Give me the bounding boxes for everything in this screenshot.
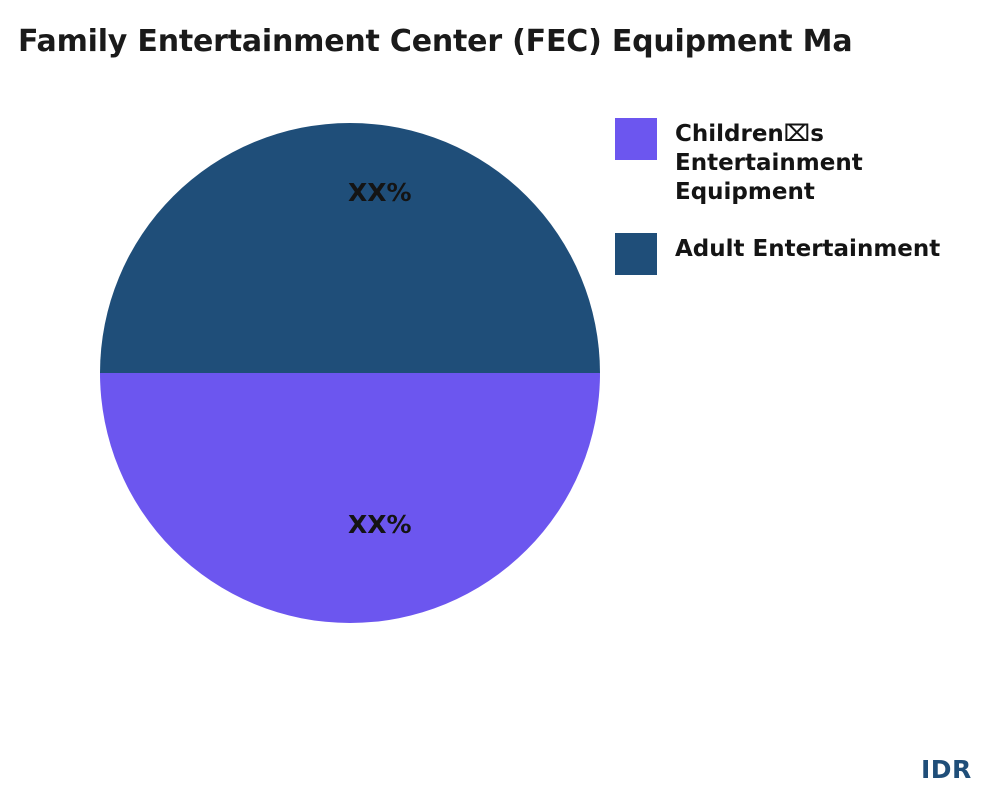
legend: Children⌧s Entertainment Equipment Adult… [615,118,1000,301]
pie-slice-label-children: XX% [348,510,412,539]
pie-slice-children[interactable] [100,373,600,623]
pie-slice-adult[interactable] [100,123,600,373]
pie-chart-figure: Family Entertainment Center (FEC) Equipm… [0,0,1000,800]
legend-item-adult[interactable]: Adult Entertainment [615,233,1000,275]
pie-slice-label-adult: XX% [348,178,412,207]
legend-label-adult: Adult Entertainment [675,233,940,264]
watermark-idr: IDR [921,755,972,784]
chart-title: Family Entertainment Center (FEC) Equipm… [18,24,852,59]
legend-swatch-children [615,118,657,160]
legend-item-children[interactable]: Children⌧s Entertainment Equipment [615,118,1000,207]
legend-label-children: Children⌧s Entertainment Equipment [675,118,1000,207]
legend-swatch-adult [615,233,657,275]
pie-plot-area: XX% XX% [100,118,600,628]
